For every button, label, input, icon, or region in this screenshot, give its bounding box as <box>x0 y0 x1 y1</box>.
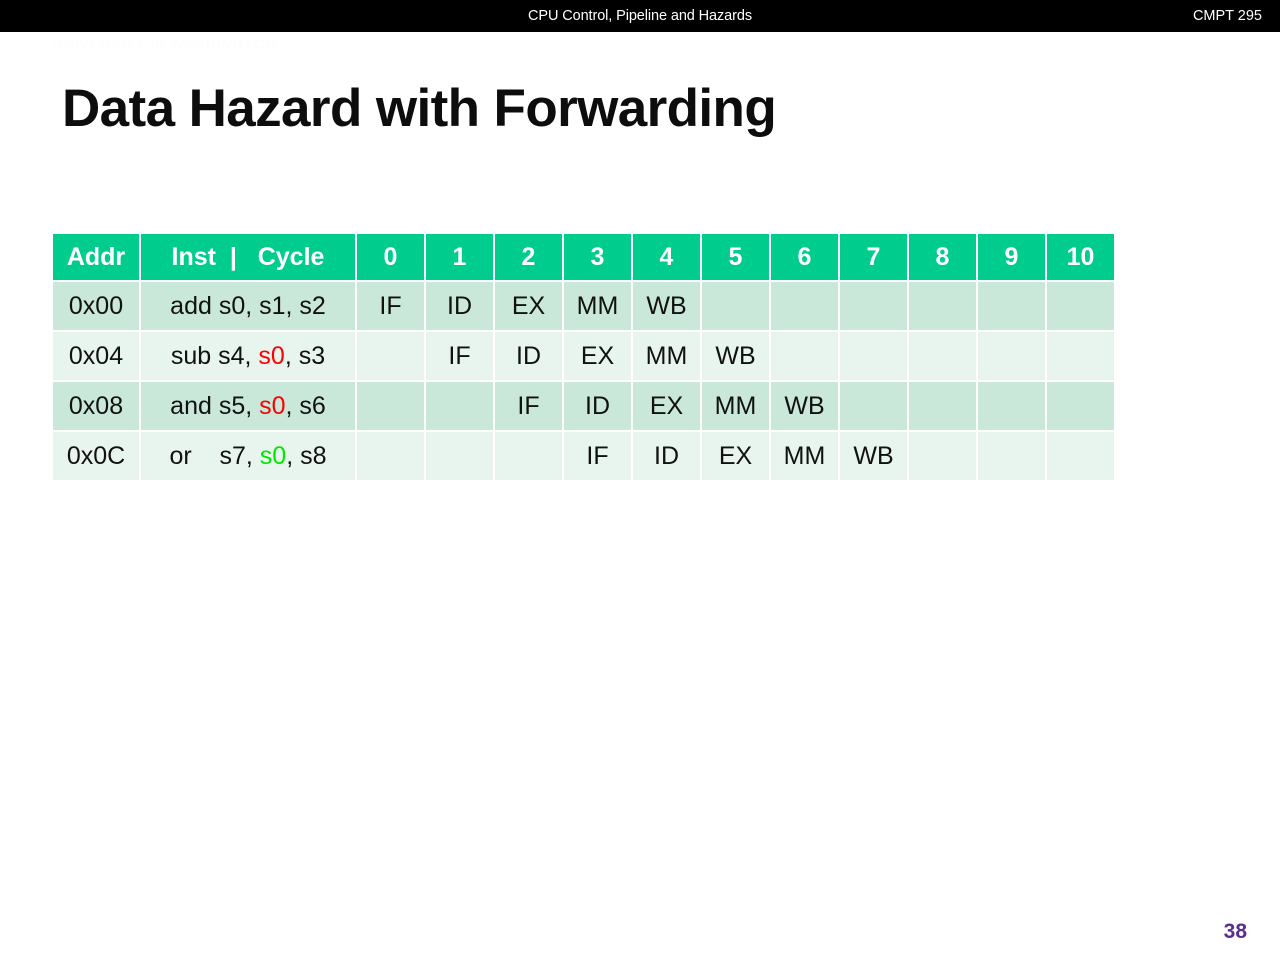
cell-stage-mm: MM <box>633 332 700 380</box>
cell-stage-empty <box>909 432 976 480</box>
header-cycle-5: 5 <box>702 234 769 280</box>
header-cycle-4: 4 <box>633 234 700 280</box>
header-cycle-9: 9 <box>978 234 1045 280</box>
table-row: 0x0Cor s7, s0, s8IFIDEXMMWB <box>53 432 1114 480</box>
cell-stage-empty <box>978 382 1045 430</box>
header-addr: Addr <box>53 234 139 280</box>
pipeline-diagram-table: Addr Inst | Cycle 012345678910 0x00add s… <box>51 232 1116 482</box>
cell-stage-if: IF <box>564 432 631 480</box>
cell-stage-wb: WB <box>840 432 907 480</box>
header-cycle-1: 1 <box>426 234 493 280</box>
table-body: 0x00add s0, s1, s2IFIDEXMMWB0x04sub s4, … <box>53 282 1114 480</box>
table-row: 0x08and s5, s0, s6IFIDEXMMWB <box>53 382 1114 430</box>
cell-stage-empty <box>357 432 424 480</box>
cell-stage-mm: MM <box>564 282 631 330</box>
instruction-text: , s6 <box>286 392 326 420</box>
cell-stage-empty <box>978 282 1045 330</box>
cell-stage-wb: WB <box>702 332 769 380</box>
register-highlight-red: s0 <box>259 392 285 420</box>
cell-stage-ex: EX <box>633 382 700 430</box>
cell-stage-ex: EX <box>702 432 769 480</box>
cell-stage-wb: WB <box>633 282 700 330</box>
cell-stage-if: IF <box>357 282 424 330</box>
cell-stage-empty <box>1047 332 1114 380</box>
cell-stage-empty <box>771 332 838 380</box>
cell-stage-mm: MM <box>771 432 838 480</box>
header-cycle-2: 2 <box>495 234 562 280</box>
instruction-text: , s8 <box>286 442 326 470</box>
cell-stage-empty <box>840 332 907 380</box>
cell-stage-empty <box>909 382 976 430</box>
cell-stage-mm: MM <box>702 382 769 430</box>
cell-address: 0x0C <box>53 432 139 480</box>
cell-address: 0x00 <box>53 282 139 330</box>
cell-stage-empty <box>978 432 1045 480</box>
register-highlight-red: s0 <box>258 342 284 370</box>
cell-stage-empty <box>771 282 838 330</box>
header-cycle-10: 10 <box>1047 234 1114 280</box>
cell-stage-ex: EX <box>564 332 631 380</box>
slide-header-bar: CPU Control, Pipeline and Hazards CMPT 2… <box>0 0 1280 32</box>
cell-instruction: and s5, s0, s6 <box>141 382 355 430</box>
course-code-label: CMPT 295 <box>1193 0 1262 32</box>
table-header-row: Addr Inst | Cycle 012345678910 <box>53 234 1114 280</box>
cell-instruction: or s7, s0, s8 <box>141 432 355 480</box>
cell-stage-wb: WB <box>771 382 838 430</box>
slide-page-number: 38 <box>1224 920 1247 944</box>
cell-stage-empty <box>702 282 769 330</box>
cell-stage-if: IF <box>495 382 562 430</box>
cell-stage-empty <box>909 282 976 330</box>
cell-stage-empty <box>840 382 907 430</box>
cell-instruction: add s0, s1, s2 <box>141 282 355 330</box>
cell-stage-empty <box>1047 432 1114 480</box>
cell-stage-empty <box>840 282 907 330</box>
cell-stage-empty <box>1047 382 1114 430</box>
cell-address: 0x08 <box>53 382 139 430</box>
instruction-text: and s5, <box>170 392 259 420</box>
instruction-text: add s0, s1, s2 <box>170 292 326 320</box>
instruction-text: , s3 <box>285 342 325 370</box>
cell-stage-id: ID <box>564 382 631 430</box>
header-cycle-8: 8 <box>909 234 976 280</box>
cell-stage-ex: EX <box>495 282 562 330</box>
table-row: 0x04sub s4, s0, s3IFIDEXMMWB <box>53 332 1114 380</box>
instruction-text: or s7, <box>169 442 259 470</box>
cell-stage-empty <box>426 432 493 480</box>
cell-stage-id: ID <box>426 282 493 330</box>
cell-stage-empty <box>1047 282 1114 330</box>
header-inst-cycle: Inst | Cycle <box>141 234 355 280</box>
instruction-text: sub s4, <box>171 342 259 370</box>
cell-stage-if: IF <box>426 332 493 380</box>
cell-instruction: sub s4, s0, s3 <box>141 332 355 380</box>
cell-stage-empty <box>495 432 562 480</box>
header-cycle-0: 0 <box>357 234 424 280</box>
cell-stage-empty <box>909 332 976 380</box>
cell-stage-empty <box>426 382 493 430</box>
table-row: 0x00add s0, s1, s2IFIDEXMMWB <box>53 282 1114 330</box>
page-title: Data Hazard with Forwarding <box>62 78 776 139</box>
header-cycle-6: 6 <box>771 234 838 280</box>
header-cycle-3: 3 <box>564 234 631 280</box>
university-watermark: UNIVERSITY of WASHINGTON <box>52 36 277 53</box>
cell-address: 0x04 <box>53 332 139 380</box>
course-topic-label: CPU Control, Pipeline and Hazards <box>0 0 1280 32</box>
register-highlight-green: s0 <box>260 442 286 470</box>
header-cycle-7: 7 <box>840 234 907 280</box>
cell-stage-id: ID <box>633 432 700 480</box>
cell-stage-empty <box>978 332 1045 380</box>
cell-stage-empty <box>357 332 424 380</box>
cell-stage-id: ID <box>495 332 562 380</box>
cell-stage-empty <box>357 382 424 430</box>
